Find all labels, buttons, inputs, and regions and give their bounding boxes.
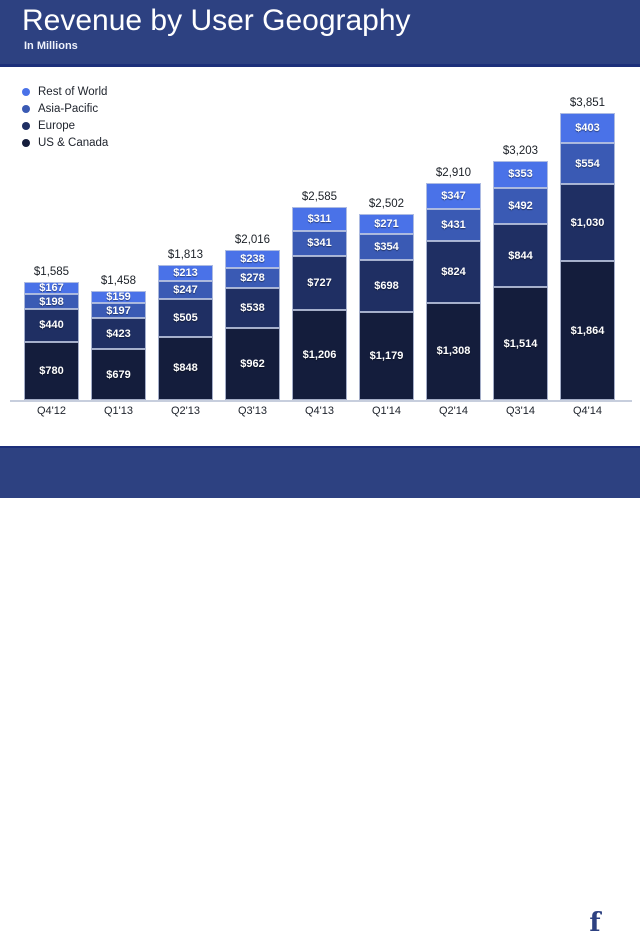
bar-segment[interactable]: $1,514 xyxy=(493,287,548,400)
bar-segment-label: $679 xyxy=(106,369,130,381)
bar-segment-label: $824 xyxy=(441,266,465,278)
bar-total-label: $2,502 xyxy=(353,198,420,210)
bar-segment-label: $1,308 xyxy=(437,345,471,357)
bar-group[interactable]: $3,203$353$492$844$1,514 xyxy=(493,161,548,400)
slide-root: Revenue by User Geography In Millions Re… xyxy=(0,0,640,498)
bar-segment-label: $505 xyxy=(173,312,197,324)
bar-segment[interactable]: $440 xyxy=(24,309,79,342)
bar-segment-label: $213 xyxy=(173,267,197,279)
bar-segment-label: $423 xyxy=(106,328,130,340)
bar-segment-label: $341 xyxy=(307,237,331,249)
facebook-f-glyph: f xyxy=(578,907,612,941)
bar-stack: $271$354$698$1,179 xyxy=(359,214,414,400)
bar-segment-label: $159 xyxy=(106,291,130,303)
bar-stack: $353$492$844$1,514 xyxy=(493,161,548,400)
bar-segment-label: $727 xyxy=(307,277,331,289)
bar-segment-label: $403 xyxy=(575,122,599,134)
bar-segment[interactable]: $538 xyxy=(225,288,280,328)
bar-segment-label: $538 xyxy=(240,302,264,314)
bar-segment-label: $844 xyxy=(508,250,532,262)
bar-segment-label: $440 xyxy=(39,319,63,331)
bar-segment[interactable]: $431 xyxy=(426,209,481,241)
bar-segment-label: $848 xyxy=(173,362,197,374)
bar-segment-label: $278 xyxy=(240,272,264,284)
bar-segment-label: $1,514 xyxy=(504,338,538,350)
bar-segment[interactable]: $1,864 xyxy=(560,261,615,400)
bar-segment[interactable]: $271 xyxy=(359,214,414,234)
x-axis-label: Q4'12 xyxy=(18,405,85,417)
x-axis-label: Q2'14 xyxy=(420,405,487,417)
bar-segment-label: $1,030 xyxy=(571,217,605,229)
bar-segment[interactable]: $423 xyxy=(91,318,146,350)
facebook-logo-icon: f xyxy=(578,907,612,941)
bar-segment-label: $197 xyxy=(106,305,130,317)
bar-segment[interactable]: $354 xyxy=(359,234,414,260)
x-axis-label: Q1'13 xyxy=(85,405,152,417)
bar-stack: $159$197$423$679 xyxy=(91,291,146,400)
bar-segment[interactable]: $403 xyxy=(560,113,615,143)
bar-segment-label: $1,864 xyxy=(571,325,605,337)
bar-segment[interactable]: $698 xyxy=(359,260,414,312)
bar-segment[interactable]: $1,179 xyxy=(359,312,414,400)
bar-total-label: $2,016 xyxy=(219,234,286,246)
chart-plot-area: $1,585$167$198$440$780$1,458$159$197$423… xyxy=(0,64,640,414)
bar-stack: $403$554$1,030$1,864 xyxy=(560,113,615,400)
bar-stack: $311$341$727$1,206 xyxy=(292,207,347,400)
x-axis-label: Q1'14 xyxy=(353,405,420,417)
bar-total-label: $3,203 xyxy=(487,145,554,157)
page-subtitle: In Millions xyxy=(24,40,78,52)
slide-footer: Revenue by user geography is geographica… xyxy=(0,448,640,498)
bar-segment[interactable]: $278 xyxy=(225,268,280,289)
bar-segment-label: $353 xyxy=(508,168,532,180)
bar-stack: $238$278$538$962 xyxy=(225,250,280,400)
bar-segment[interactable]: $679 xyxy=(91,349,146,400)
bar-segment[interactable]: $727 xyxy=(292,256,347,310)
bar-segment[interactable]: $848 xyxy=(158,337,213,400)
bar-segment[interactable]: $492 xyxy=(493,188,548,225)
bar-group[interactable]: $2,585$311$341$727$1,206 xyxy=(292,207,347,400)
slide-header: Revenue by User Geography In Millions xyxy=(0,0,640,64)
x-axis-label: Q3'13 xyxy=(219,405,286,417)
bar-segment[interactable]: $247 xyxy=(158,281,213,299)
bar-segment[interactable]: $159 xyxy=(91,291,146,303)
bar-segment[interactable]: $213 xyxy=(158,265,213,281)
bar-stack: $213$247$505$848 xyxy=(158,265,213,400)
bar-segment-label: $271 xyxy=(374,218,398,230)
bar-segment-label: $347 xyxy=(441,190,465,202)
bar-segment[interactable]: $238 xyxy=(225,250,280,268)
bar-group[interactable]: $2,910$347$431$824$1,308 xyxy=(426,183,481,400)
bar-segment[interactable]: $311 xyxy=(292,207,347,230)
bar-stack: $167$198$440$780 xyxy=(24,282,79,400)
bar-segment[interactable]: $353 xyxy=(493,161,548,187)
bar-segment-label: $354 xyxy=(374,241,398,253)
bar-segment[interactable]: $962 xyxy=(225,328,280,400)
bar-group[interactable]: $2,502$271$354$698$1,179 xyxy=(359,214,414,400)
bar-segment[interactable]: $1,206 xyxy=(292,310,347,400)
bar-segment-label: $247 xyxy=(173,284,197,296)
bar-segment-label: $238 xyxy=(240,253,264,265)
bar-group[interactable]: $1,813$213$247$505$848 xyxy=(158,265,213,400)
x-axis-label: Q2'13 xyxy=(152,405,219,417)
bar-group[interactable]: $1,458$159$197$423$679 xyxy=(91,291,146,400)
bar-total-label: $1,585 xyxy=(18,266,85,278)
bar-segment[interactable]: $347 xyxy=(426,183,481,209)
bar-group[interactable]: $3,851$403$554$1,030$1,864 xyxy=(560,113,615,400)
bar-segment[interactable]: $197 xyxy=(91,303,146,318)
bar-stack: $347$431$824$1,308 xyxy=(426,183,481,400)
bar-segment[interactable]: $167 xyxy=(24,282,79,294)
bar-segment-label: $1,179 xyxy=(370,350,404,362)
x-axis-line xyxy=(10,400,632,402)
bar-total-label: $2,910 xyxy=(420,167,487,179)
bar-segment-label: $492 xyxy=(508,200,532,212)
bar-segment[interactable]: $1,308 xyxy=(426,303,481,400)
bar-segment[interactable]: $824 xyxy=(426,241,481,302)
x-axis-labels: Q4'12Q1'13Q2'13Q3'13Q4'13Q1'14Q2'14Q3'14… xyxy=(0,405,640,425)
bar-segment-label: $311 xyxy=(308,213,332,225)
bar-segment-label: $198 xyxy=(39,296,63,308)
bar-segment-label: $698 xyxy=(374,280,398,292)
bar-segment-label: $962 xyxy=(240,358,264,370)
bar-total-label: $1,458 xyxy=(85,275,152,287)
bar-total-label: $1,813 xyxy=(152,249,219,261)
x-axis-label: Q4'13 xyxy=(286,405,353,417)
x-axis-label: Q3'14 xyxy=(487,405,554,417)
bar-segment[interactable]: $341 xyxy=(292,231,347,256)
bar-segment-label: $554 xyxy=(575,158,599,170)
bar-total-label: $3,851 xyxy=(554,97,621,109)
bar-segment-label: $167 xyxy=(39,282,63,294)
bar-group[interactable]: $1,585$167$198$440$780 xyxy=(24,282,79,400)
page-number: 9 xyxy=(0,931,640,940)
bar-segment[interactable]: $780 xyxy=(24,342,79,400)
footnote-text: Revenue by user geography is geographica… xyxy=(22,902,522,927)
page-title: Revenue by User Geography xyxy=(22,4,411,38)
x-axis-label: Q4'14 xyxy=(554,405,621,417)
bar-group[interactable]: $2,016$238$278$538$962 xyxy=(225,250,280,400)
bar-segment[interactable]: $554 xyxy=(560,143,615,184)
bar-total-label: $2,585 xyxy=(286,191,353,203)
bar-segment[interactable]: $505 xyxy=(158,299,213,337)
bar-segment[interactable]: $198 xyxy=(24,294,79,309)
bar-segment-label: $1,206 xyxy=(303,349,337,361)
bar-segment-label: $431 xyxy=(441,219,465,231)
bar-segment[interactable]: $1,030 xyxy=(560,184,615,261)
bar-segment[interactable]: $844 xyxy=(493,224,548,287)
bar-segment-label: $780 xyxy=(39,365,63,377)
